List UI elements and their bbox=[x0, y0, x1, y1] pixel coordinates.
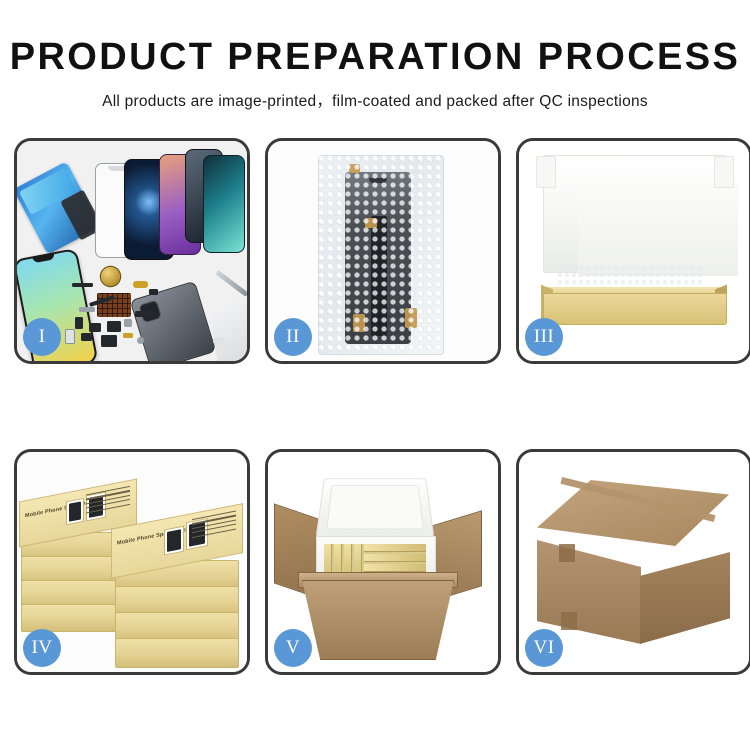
box-front-panel bbox=[543, 293, 727, 325]
small-part bbox=[79, 307, 95, 312]
small-part bbox=[124, 319, 132, 327]
tape-piece bbox=[365, 218, 377, 228]
inner-box-edge bbox=[364, 564, 426, 572]
carton-right-face bbox=[640, 552, 730, 644]
small-part bbox=[137, 337, 144, 344]
small-part bbox=[149, 289, 158, 295]
product-preparation-infographic: PRODUCT PREPARATION PROCESS All products… bbox=[0, 0, 750, 750]
carton-body bbox=[302, 580, 454, 660]
page-subtitle: All products are image-printed，film-coat… bbox=[0, 89, 750, 111]
small-part bbox=[135, 311, 153, 317]
wrapped-flex-cable bbox=[371, 216, 387, 336]
step-badge-1: I bbox=[23, 318, 61, 356]
carton-left-face bbox=[537, 540, 641, 644]
step-badge-6: VI bbox=[525, 629, 563, 667]
label-window bbox=[66, 498, 84, 525]
small-part bbox=[213, 337, 225, 345]
small-part bbox=[107, 321, 121, 332]
small-part bbox=[75, 317, 83, 329]
inner-box-edge bbox=[364, 544, 426, 552]
tape-piece bbox=[405, 308, 417, 328]
step-panel-3: III bbox=[516, 138, 750, 364]
phone-back-housing bbox=[130, 281, 217, 361]
step-badge-2: II bbox=[274, 318, 312, 356]
label-spec-lines bbox=[192, 511, 236, 541]
label-window bbox=[164, 526, 184, 556]
foam-lid-open bbox=[543, 155, 727, 273]
tape-piece bbox=[353, 314, 365, 332]
process-step-grid: I II bbox=[14, 138, 736, 675]
small-part bbox=[89, 323, 101, 332]
phone-teal bbox=[203, 155, 245, 253]
speaker-coil-part bbox=[101, 267, 120, 286]
foam-lid-upright bbox=[316, 478, 435, 538]
tweezer-tool bbox=[215, 270, 247, 297]
small-part bbox=[65, 329, 75, 344]
small-part bbox=[72, 283, 93, 287]
label-spec-lines bbox=[86, 486, 130, 516]
small-part bbox=[101, 335, 117, 347]
technician-hand bbox=[209, 298, 247, 361]
step-badge-5: V bbox=[274, 629, 312, 667]
foam-sheet bbox=[578, 180, 738, 276]
bubble-wrap-bag bbox=[318, 155, 444, 355]
small-part bbox=[133, 281, 148, 288]
stacked-box bbox=[115, 638, 239, 668]
header: PRODUCT PREPARATION PROCESS All products… bbox=[0, 0, 750, 111]
carton-tape-upper bbox=[559, 544, 575, 562]
small-part bbox=[81, 333, 92, 341]
page-title: PRODUCT PREPARATION PROCESS bbox=[0, 38, 750, 78]
inner-box-edge bbox=[364, 554, 426, 562]
step-panel-5: V bbox=[265, 449, 501, 675]
small-part bbox=[123, 333, 133, 338]
step-panel-2: II bbox=[265, 138, 501, 364]
step-badge-3: III bbox=[525, 318, 563, 356]
carton-tape-lower bbox=[561, 612, 577, 630]
step-badge-4: IV bbox=[23, 629, 61, 667]
tape-piece bbox=[349, 164, 360, 173]
step-panel-6: VI bbox=[516, 449, 750, 675]
step-panel-1: I bbox=[14, 138, 250, 364]
step-panel-4: Mobile Phone Spare Parts Mobile Phone Sp… bbox=[14, 449, 250, 675]
